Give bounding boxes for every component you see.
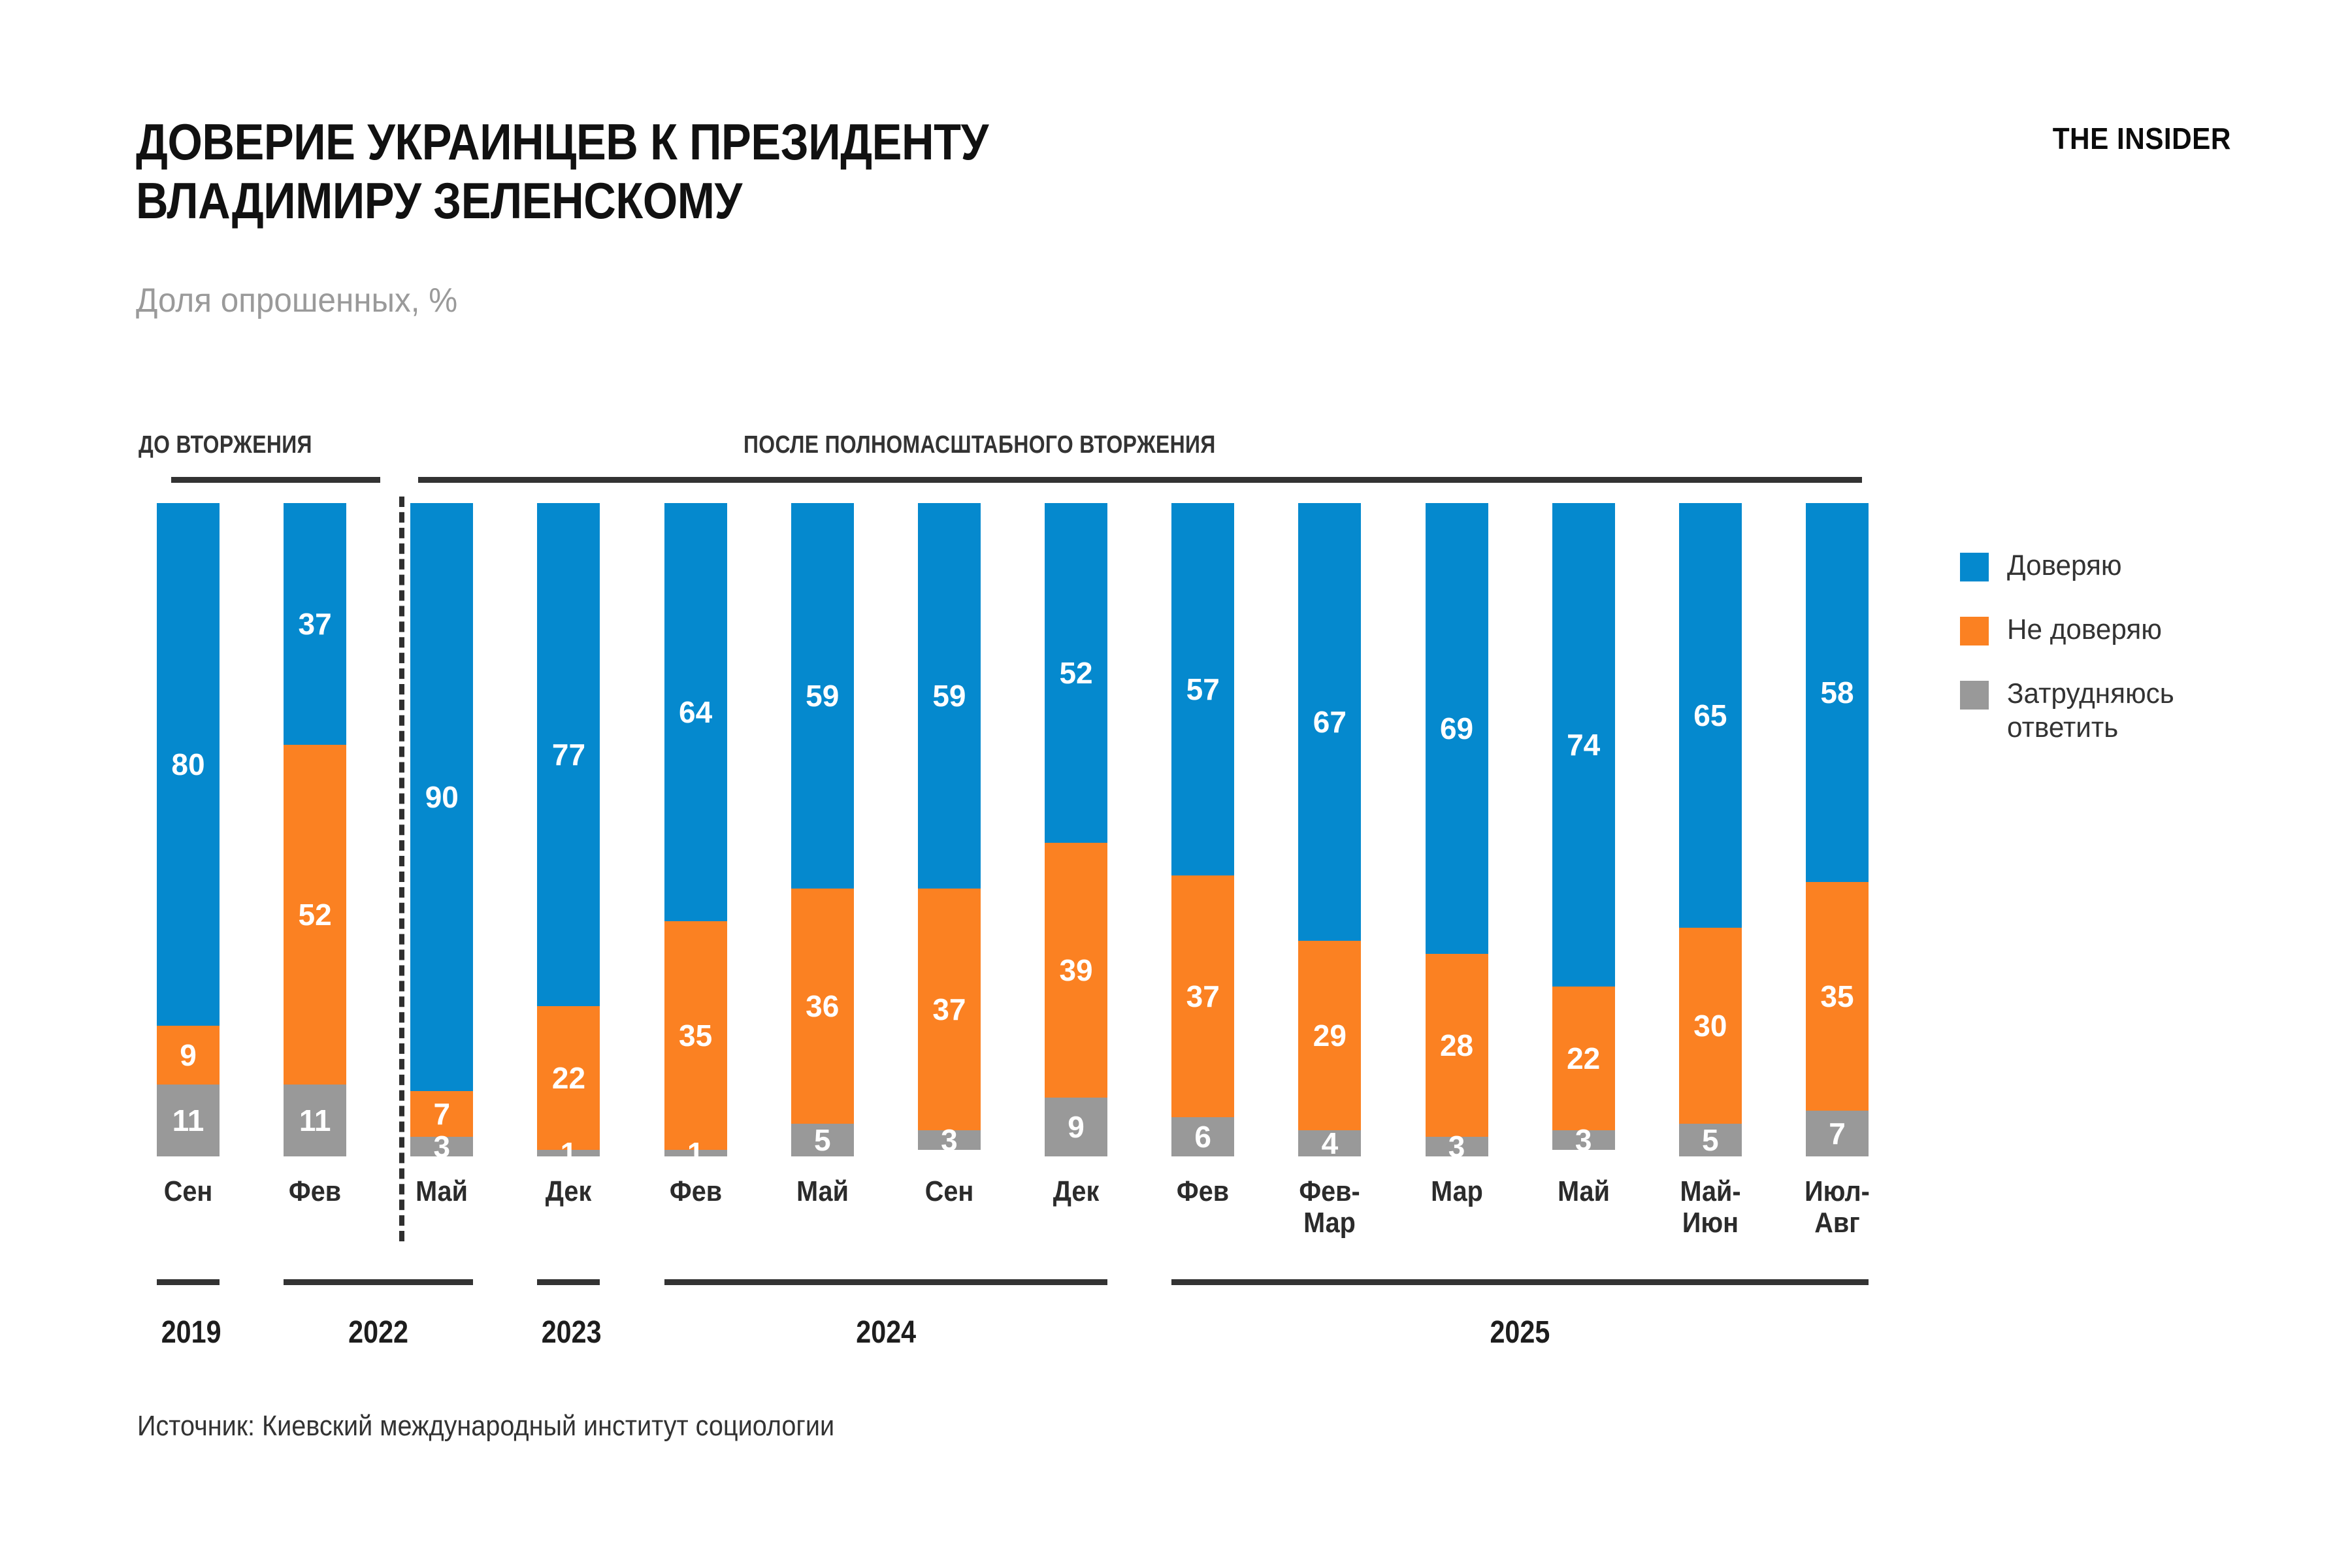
month-label: Фев <box>1138 1176 1267 1207</box>
bar-segment-trust[interactable]: 64 <box>664 503 727 921</box>
bar-segment-value: 74 <box>1567 730 1600 760</box>
month-label: Май-Июн <box>1646 1176 1775 1238</box>
year-group-label: 2024 <box>695 1315 1076 1350</box>
month-label: Фев <box>250 1176 380 1207</box>
bar-column[interactable]: 80911 <box>157 503 220 1156</box>
bar-column[interactable]: 59365 <box>791 503 854 1156</box>
section-label-after-invasion: ПОСЛЕ ПОЛНОМАСШТАБНОГО ВТОРЖЕНИЯ <box>743 431 1216 459</box>
bar-segment-value: 7 <box>434 1099 451 1129</box>
bar-column[interactable]: 65305 <box>1679 503 1742 1156</box>
legend-label: Доверяю <box>2007 549 2122 583</box>
year-group-rule <box>1171 1279 1869 1285</box>
bar-segment-value: 65 <box>1693 700 1727 730</box>
bar-segment-distrust[interactable]: 52 <box>284 745 346 1085</box>
legend-swatch-icon <box>1960 617 1989 645</box>
bar-segment-distrust[interactable]: 37 <box>918 889 981 1130</box>
bar-segment-value: 35 <box>1820 981 1854 1011</box>
bar-segment-value: 59 <box>932 681 966 711</box>
bar-segment-value: 30 <box>1693 1011 1727 1041</box>
chart-legend: ДоверяюНе доверяюЗатрудняюсьответить <box>1960 549 2300 775</box>
bar-segment-value: 4 <box>1322 1128 1339 1158</box>
bar-segment-distrust[interactable]: 9 <box>157 1026 220 1085</box>
bar-segment-trust[interactable]: 77 <box>537 503 600 1006</box>
section-rule-after-invasion <box>418 477 1862 483</box>
bar-segment-unsure[interactable]: 6 <box>1171 1117 1234 1156</box>
month-label: Сен <box>885 1176 1014 1207</box>
bar-segment-value: 22 <box>552 1063 585 1093</box>
month-label: Июл-Авг <box>1772 1176 1902 1238</box>
bar-segment-value: 57 <box>1186 674 1220 704</box>
bar-segment-value: 67 <box>1313 707 1347 737</box>
month-label: Сен <box>123 1176 253 1207</box>
bar-segment-value: 7 <box>1829 1119 1846 1149</box>
year-group-rule <box>284 1279 473 1285</box>
bar-segment-trust[interactable]: 90 <box>410 503 473 1091</box>
year-group-label: 2023 <box>542 1315 596 1350</box>
bar-segment-unsure[interactable]: 9 <box>1045 1098 1107 1156</box>
bar-segment-value: 5 <box>814 1125 831 1155</box>
bar-segment-trust[interactable]: 69 <box>1426 503 1488 954</box>
bar-segment-distrust[interactable]: 28 <box>1426 954 1488 1137</box>
bar-segment-value: 35 <box>679 1021 712 1051</box>
legend-label: Затрудняюсьответить <box>2007 677 2174 745</box>
title-line-2: ВЛАДИМИРУ ЗЕЛЕНСКОМУ <box>136 171 1516 230</box>
year-group-rule <box>157 1279 220 1285</box>
bar-segment-unsure[interactable]: 3 <box>410 1137 473 1156</box>
bar-segment-distrust[interactable]: 35 <box>1806 882 1869 1111</box>
month-label: Мар <box>1392 1176 1522 1207</box>
bar-segment-trust[interactable]: 67 <box>1298 503 1361 941</box>
bar-column[interactable]: 67294 <box>1298 503 1361 1156</box>
bar-segment-value: 11 <box>172 1105 204 1135</box>
bar-segment-unsure[interactable]: 1 <box>664 1150 727 1156</box>
bar-segment-unsure[interactable]: 1 <box>537 1150 600 1156</box>
bar-segment-unsure[interactable]: 3 <box>918 1130 981 1150</box>
bar-column[interactable]: 52399 <box>1045 503 1107 1156</box>
bar-segment-unsure[interactable]: 3 <box>1552 1130 1615 1150</box>
section-rule-before-invasion <box>171 477 380 483</box>
bar-column[interactable]: 57376 <box>1171 503 1234 1156</box>
year-group-label: 2025 <box>1220 1315 1820 1350</box>
bar-column[interactable]: 69283 <box>1426 503 1488 1156</box>
bar-segment-value: 80 <box>171 749 204 779</box>
year-group-rule <box>664 1279 1107 1285</box>
bar-segment-unsure[interactable]: 4 <box>1298 1130 1361 1156</box>
brand-logo: THE INSIDER <box>2053 121 2231 156</box>
bar-segment-unsure[interactable]: 5 <box>791 1124 854 1156</box>
bar-segment-value: 52 <box>299 900 332 930</box>
x-axis-month-labels: СенФевМайДекФевМайСенДекФевФев-МарМарМай… <box>157 1176 1869 1267</box>
bar-segment-distrust[interactable]: 7 <box>410 1091 473 1137</box>
bar-segment-value: 77 <box>552 740 585 770</box>
bar-segment-value: 39 <box>1059 955 1092 985</box>
bar-segment-trust[interactable]: 57 <box>1171 503 1234 875</box>
year-group-label: 2019 <box>161 1315 216 1350</box>
bar-segment-distrust[interactable]: 36 <box>791 889 854 1124</box>
bar-segment-distrust[interactable]: 29 <box>1298 941 1361 1130</box>
month-label: Май <box>377 1176 506 1207</box>
legend-item[interactable]: Не доверяю <box>1960 613 2300 647</box>
bar-column[interactable]: 59373 <box>918 503 981 1156</box>
month-label: Май <box>1519 1176 1648 1207</box>
month-label: Дек <box>504 1176 633 1207</box>
bar-segment-unsure[interactable]: 5 <box>1679 1124 1742 1156</box>
section-label-before-invasion: ДО ВТОРЖЕНИЯ <box>139 431 312 459</box>
bar-segment-value: 6 <box>1194 1122 1211 1152</box>
bar-segment-trust[interactable]: 80 <box>157 503 220 1026</box>
source-note: Источник: Киевский международный институ… <box>137 1410 834 1443</box>
legend-swatch-icon <box>1960 681 1989 710</box>
bar-column[interactable]: 375211 <box>284 503 346 1156</box>
stacked-bar-chart: 8091137521190737722164351593655937352399… <box>157 503 1869 1156</box>
bar-column[interactable]: 77221 <box>537 503 600 1156</box>
bar-segment-distrust[interactable]: 30 <box>1679 928 1742 1124</box>
bar-segment-distrust[interactable]: 22 <box>537 1006 600 1150</box>
bar-segment-value: 29 <box>1313 1021 1347 1051</box>
bar-segment-trust[interactable]: 59 <box>918 503 981 889</box>
bar-segment-trust[interactable]: 59 <box>791 503 854 889</box>
bar-column[interactable]: 64351 <box>664 503 727 1156</box>
bar-segment-value: 5 <box>1702 1125 1719 1155</box>
page-subtitle: Доля опрошенных, % <box>136 281 457 320</box>
bar-segment-trust[interactable]: 52 <box>1045 503 1107 843</box>
bar-segment-value: 36 <box>806 991 839 1021</box>
title-line-1: ДОВЕРИЕ УКРАИНЦЕВ К ПРЕЗИДЕНТУ <box>136 112 1516 171</box>
bar-segment-value: 37 <box>932 994 966 1024</box>
bar-segment-value: 90 <box>425 782 459 812</box>
bar-segment-value: 64 <box>679 697 712 727</box>
month-label: Фев <box>631 1176 760 1207</box>
bar-segment-value: 11 <box>299 1105 331 1135</box>
month-label: Фев-Мар <box>1265 1176 1394 1238</box>
bar-column[interactable]: 58357 <box>1806 503 1869 1156</box>
x-axis-year-groups: 20192022202320242025 <box>157 1279 1869 1410</box>
legend-swatch-icon <box>1960 553 1989 581</box>
bar-segment-unsure[interactable]: 11 <box>284 1085 346 1156</box>
bar-segment-value: 37 <box>1186 981 1220 1011</box>
year-group-rule <box>537 1279 600 1285</box>
bar-segment-unsure[interactable]: 3 <box>1426 1137 1488 1156</box>
bar-segment-unsure[interactable]: 11 <box>157 1085 220 1156</box>
bar-segment-trust[interactable]: 65 <box>1679 503 1742 928</box>
bar-column[interactable]: 9073 <box>410 503 473 1156</box>
year-group-label: 2022 <box>297 1315 460 1350</box>
bar-segment-distrust[interactable]: 37 <box>1171 875 1234 1117</box>
bar-segment-distrust[interactable]: 35 <box>664 921 727 1150</box>
bar-segment-value: 37 <box>299 609 332 639</box>
infographic-page: ДОВЕРИЕ УКРАИНЦЕВ К ПРЕЗИДЕНТУ ВЛАДИМИРУ… <box>0 0 2352 1568</box>
bar-segment-distrust[interactable]: 22 <box>1552 987 1615 1130</box>
legend-label: Не доверяю <box>2007 613 2162 647</box>
bar-segment-value: 22 <box>1567 1043 1600 1073</box>
bar-segment-unsure[interactable]: 7 <box>1806 1111 1869 1156</box>
bar-segment-value: 9 <box>1068 1112 1085 1142</box>
bar-segment-trust[interactable]: 37 <box>284 503 346 745</box>
bar-segment-value: 52 <box>1059 658 1092 688</box>
page-title: ДОВЕРИЕ УКРАИНЦЕВ К ПРЕЗИДЕНТУ ВЛАДИМИРУ… <box>136 112 1516 231</box>
month-label: Май <box>758 1176 887 1207</box>
legend-item[interactable]: Доверяю <box>1960 549 2300 583</box>
legend-item[interactable]: Затрудняюсьответить <box>1960 677 2300 745</box>
bar-segment-trust[interactable]: 74 <box>1552 503 1615 987</box>
bar-segment-value: 28 <box>1440 1030 1473 1060</box>
bar-segment-trust[interactable]: 58 <box>1806 503 1869 882</box>
bar-segment-value: 58 <box>1820 678 1854 708</box>
bar-segment-value: 59 <box>806 681 839 711</box>
bar-segment-value: 9 <box>180 1040 197 1070</box>
month-label: Дек <box>1011 1176 1141 1207</box>
bar-segment-value: 69 <box>1440 713 1473 743</box>
bar-column[interactable]: 74223 <box>1552 503 1615 1156</box>
bar-segment-distrust[interactable]: 39 <box>1045 843 1107 1098</box>
